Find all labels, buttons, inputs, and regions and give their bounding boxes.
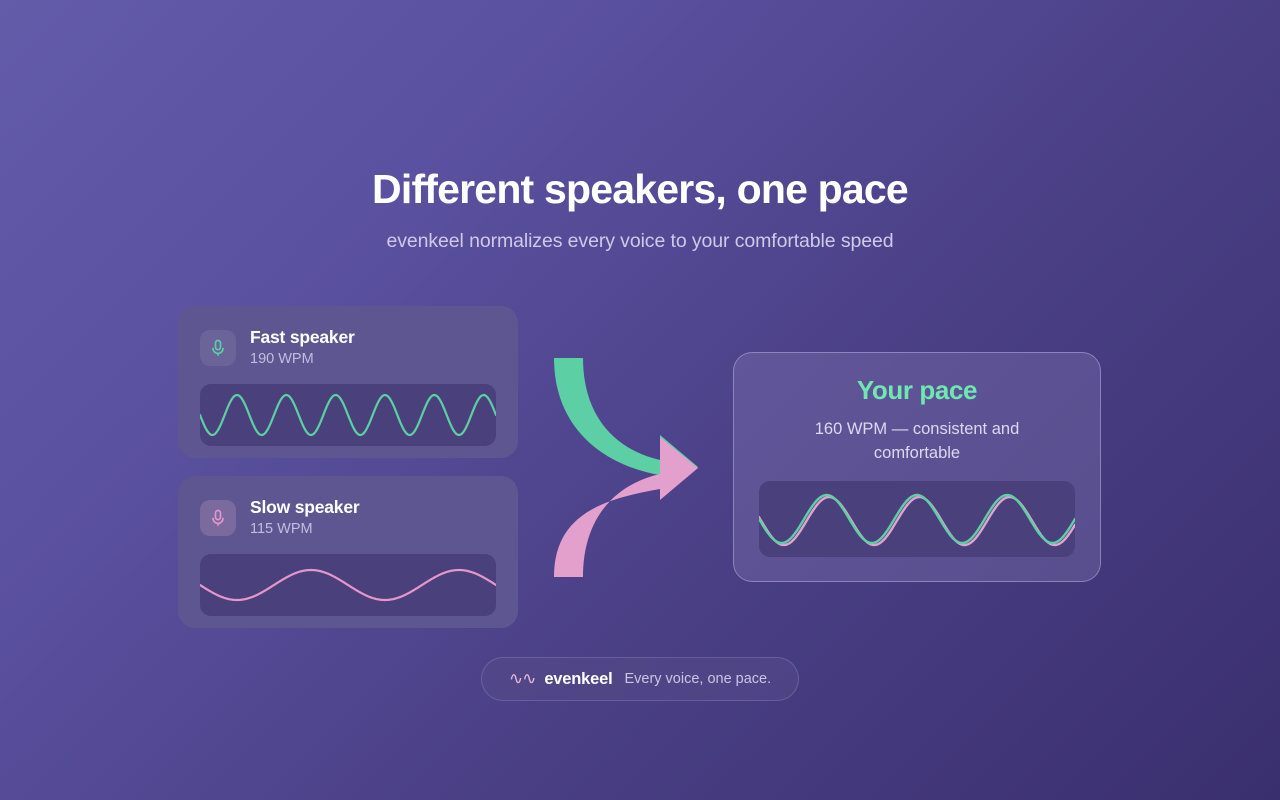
speaker-name: Fast speaker [250,327,355,349]
page-title: Different speakers, one pace [0,166,1280,213]
microphone-icon [200,330,236,366]
result-card[interactable]: Your pace 160 WPM — consistent and comfo… [733,352,1101,582]
page-subtitle: evenkeel normalizes every voice to your … [0,230,1280,253]
brand-tagline: Every voice, one pace. [624,671,771,687]
brand-badge[interactable]: ∿∿ evenkeel Every voice, one pace. [481,657,799,701]
brand-name: evenkeel [544,670,612,689]
waveform-slow [200,554,496,616]
waveform-result [759,481,1075,557]
result-subtitle: 160 WPM — consistent and comfortable [759,418,1075,465]
speaker-wpm: 190 WPM [250,351,355,368]
speaker-card-slow[interactable]: Slow speaker 115 WPM [178,476,518,628]
transform-arrows [540,345,715,590]
result-title: Your pace [759,375,1075,406]
speaker-card-fast[interactable]: Fast speaker 190 WPM [178,306,518,458]
speaker-wpm: 115 WPM [250,521,359,538]
speaker-card-header: Slow speaker 115 WPM [200,494,496,542]
speaker-name: Slow speaker [250,497,359,519]
speaker-card-header: Fast speaker 190 WPM [200,324,496,372]
wave-icon: ∿∿ [509,670,536,687]
waveform-fast [200,384,496,446]
speaker-meta: Slow speaker 115 WPM [250,497,359,538]
page-header: Different speakers, one pace evenkeel no… [0,166,1280,253]
microphone-icon [200,500,236,536]
speaker-meta: Fast speaker 190 WPM [250,327,355,368]
